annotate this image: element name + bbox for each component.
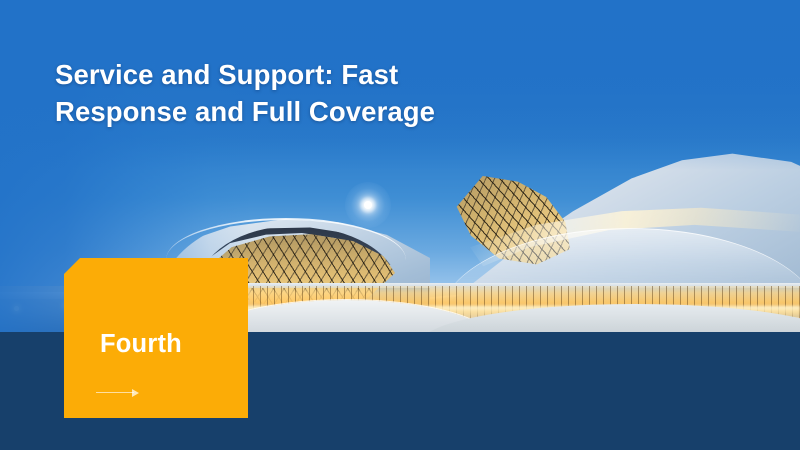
- chapter-label: Fourth: [100, 332, 182, 358]
- slide-title: Service and Support: Fast Response and F…: [55, 57, 525, 131]
- moon-icon: [364, 201, 372, 209]
- arrow-shaft: [96, 392, 134, 393]
- arrow-head: [132, 389, 139, 397]
- plaza-lamp: [14, 306, 19, 311]
- arrow-right-icon: [96, 387, 140, 398]
- slide: Service and Support: Fast Response and F…: [0, 0, 800, 450]
